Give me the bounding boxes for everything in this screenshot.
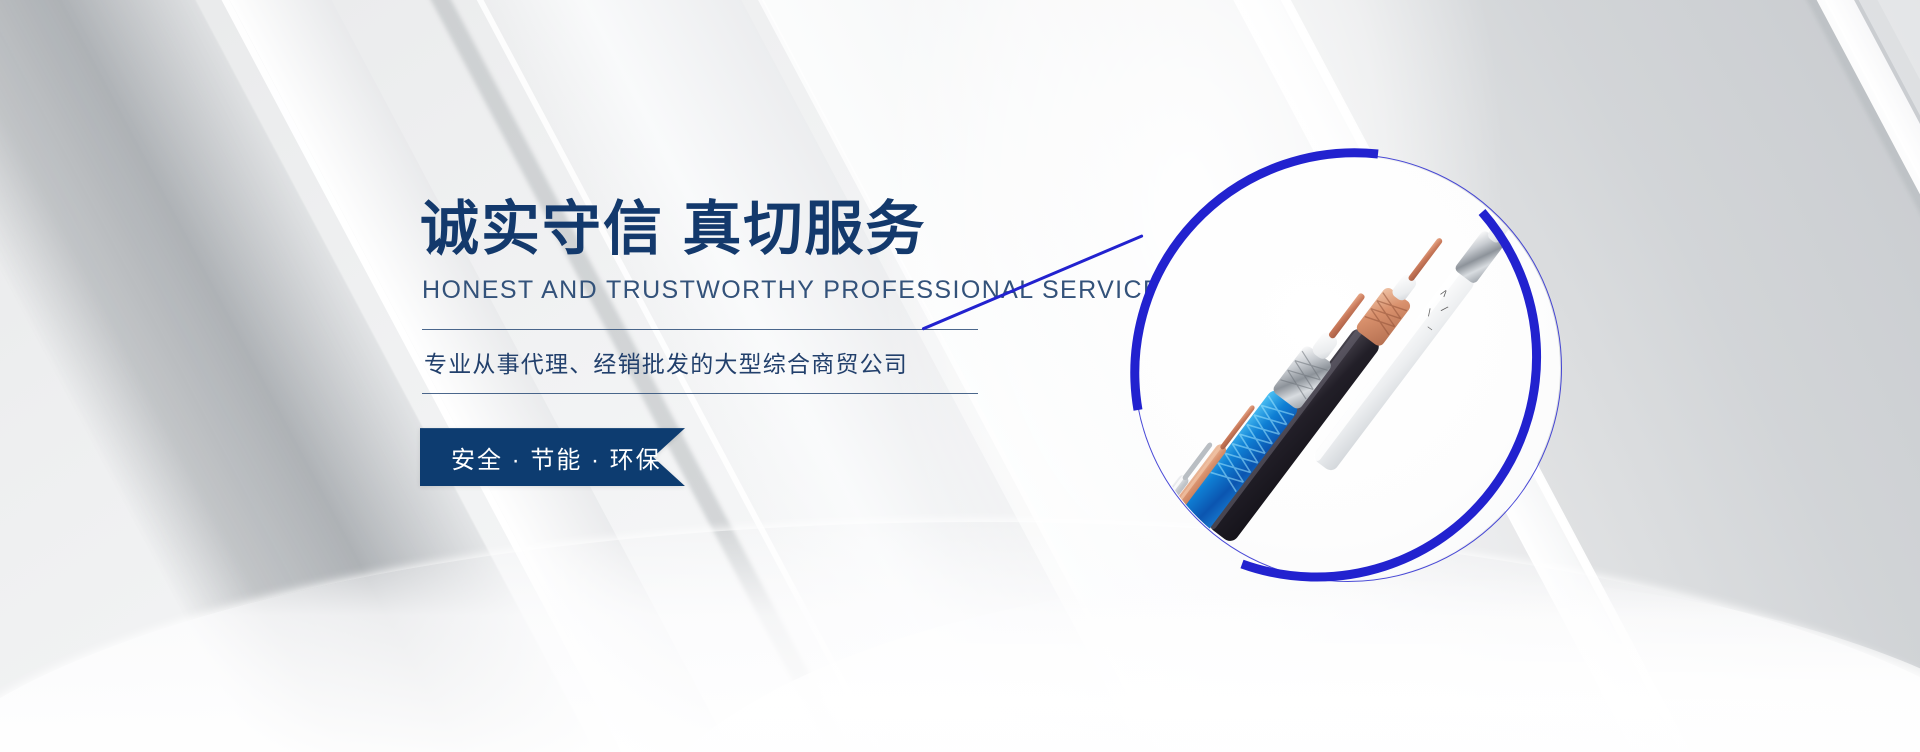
feature-tag-label: 安全 · 节能 · 环保 [451,428,662,486]
hero-banner: 诚实守信 真切服务 HONEST AND TRUSTWORTHY PROFESS… [0,0,1920,752]
hero-subheadline-english: HONEST AND TRUSTWORTHY PROFESSIONAL SERV… [422,276,1020,305]
divider-bottom [422,393,978,394]
hero-headline: 诚实守信 真切服务 [420,196,1020,262]
product-circle: Λ / \ – [1128,148,1568,588]
feature-tag[interactable]: 安全 · 节能 · 环保 [420,428,685,486]
divider-top [422,329,978,330]
hero-text-block: 诚实守信 真切服务 HONEST AND TRUSTWORTHY PROFESS… [420,196,1020,486]
blue-broken-ring-icon [1094,114,1602,622]
hero-subheadline-chinese: 专业从事代理、经销批发的大型综合商贸公司 [420,330,1020,393]
